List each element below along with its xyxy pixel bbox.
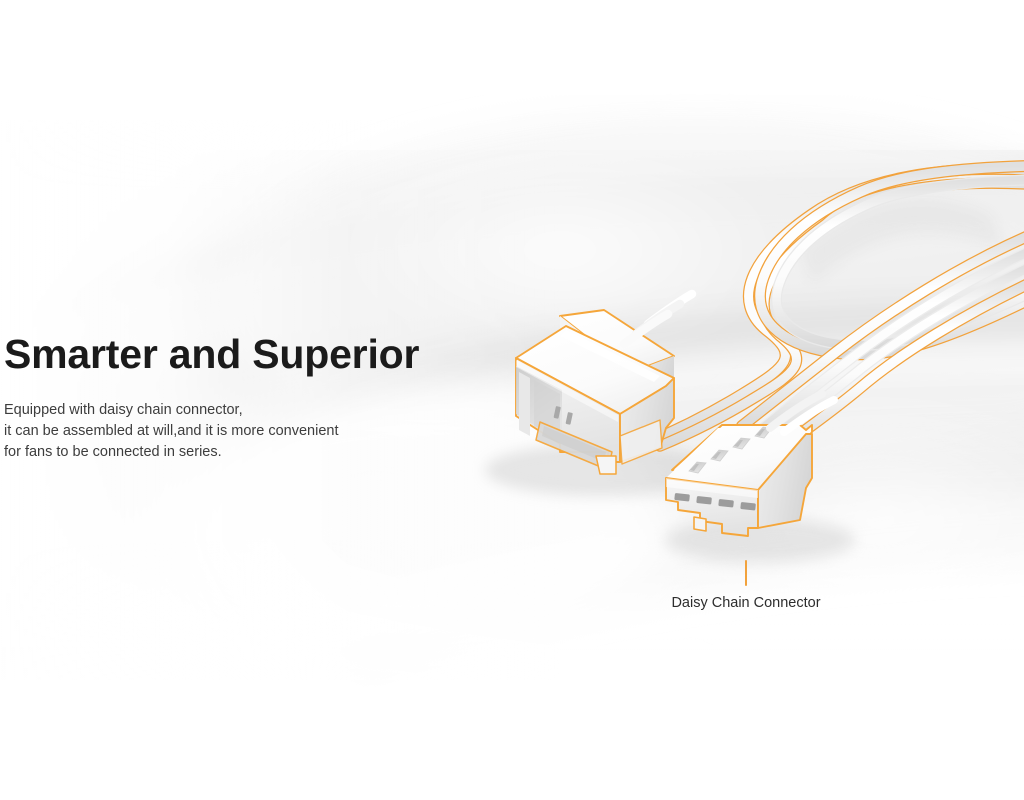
hero-description-line-2: it can be assembled at will,and it is mo… xyxy=(4,421,434,442)
hero-text-block: Smarter and Superior Equipped with daisy… xyxy=(4,332,434,463)
callout-label: Daisy Chain Connector xyxy=(560,594,932,612)
callout-daisy-chain-connector: Daisy Chain Connector xyxy=(560,560,932,612)
male-connector-wire-entry xyxy=(624,294,692,344)
male-foot xyxy=(596,456,616,474)
hero-description: Equipped with daisy chain connector, it … xyxy=(4,376,434,463)
female-latch-foot xyxy=(694,517,706,531)
hero-description-line-3: for fans to be connected in series. xyxy=(4,442,434,463)
hero-banner: Smarter and Superior Equipped with daisy… xyxy=(0,0,1024,800)
page-title: Smarter and Superior xyxy=(4,332,434,376)
female-daisy-chain-connector xyxy=(666,425,812,536)
hero-description-line-1: Equipped with daisy chain connector, xyxy=(4,400,434,421)
callout-tick-icon xyxy=(745,560,747,586)
